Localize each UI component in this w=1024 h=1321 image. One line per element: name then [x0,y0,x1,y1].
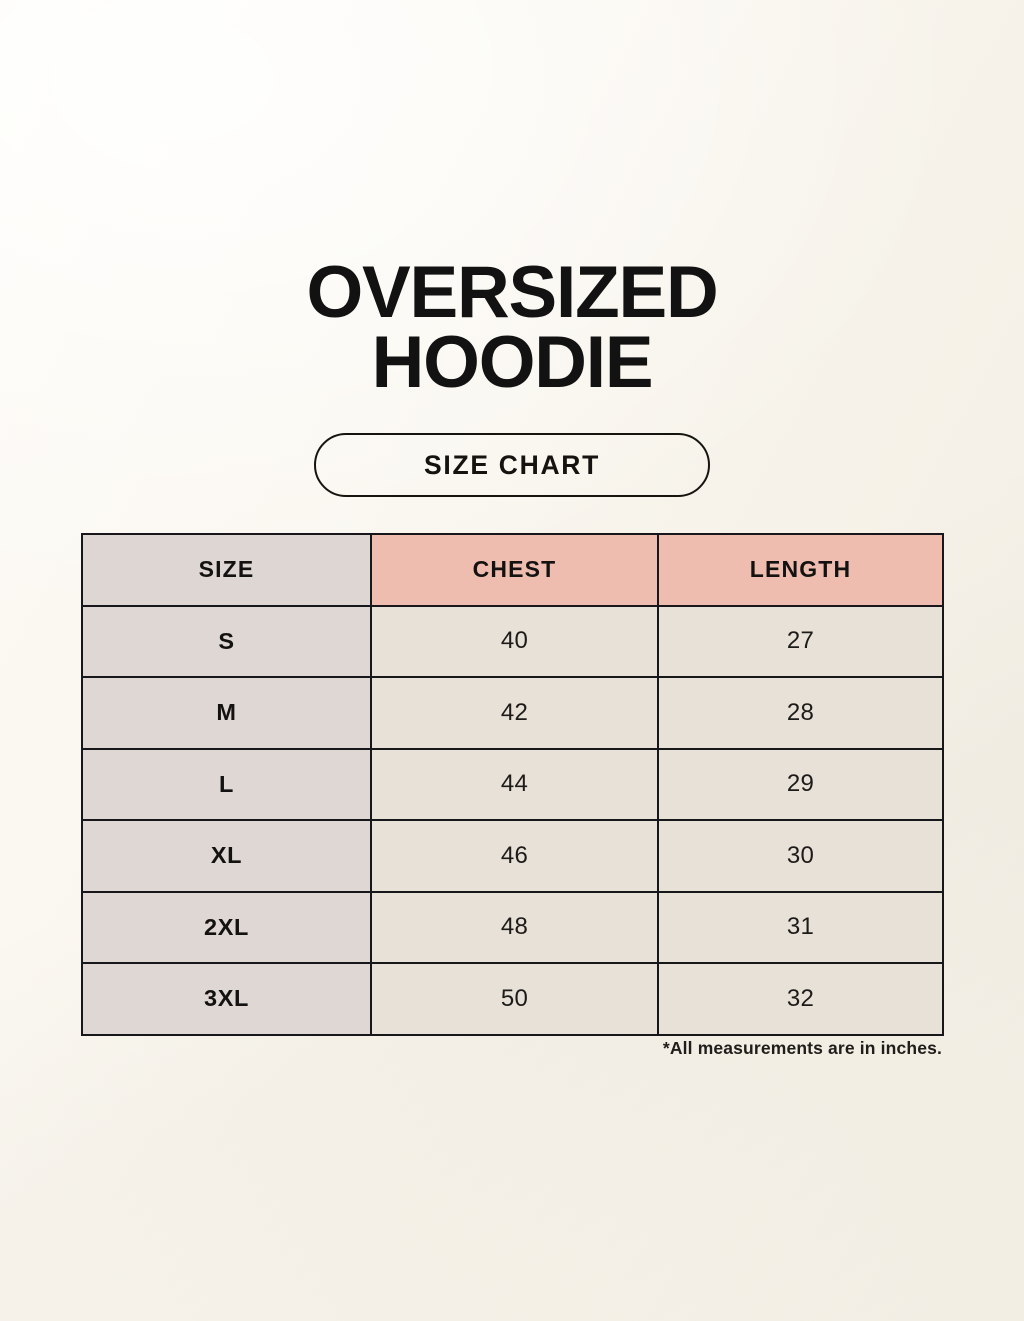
size-chart-table-container: SIZE CHEST LENGTH S 40 27 M 42 28 L [81,533,942,1036]
cell-chest: 42 [371,677,658,749]
cell-length: 32 [658,963,943,1035]
cell-length: 29 [658,749,943,821]
cell-chest: 48 [371,892,658,964]
cell-length: 28 [658,677,943,749]
cell-chest: 50 [371,963,658,1035]
page-title: OVERSIZED HOODIE [0,258,1024,398]
cell-chest: 46 [371,820,658,892]
measurements-note: *All measurements are in inches. [81,1038,942,1059]
cell-length: 27 [658,606,943,678]
table-row: 2XL 48 31 [82,892,943,964]
column-header-chest: CHEST [371,534,658,606]
table-row: S 40 27 [82,606,943,678]
cell-size: 2XL [82,892,371,964]
cell-size: L [82,749,371,821]
cell-size: XL [82,820,371,892]
page-title-line-1: OVERSIZED [0,258,1024,328]
cell-chest: 40 [371,606,658,678]
cell-chest: 44 [371,749,658,821]
cell-size: S [82,606,371,678]
cell-length: 31 [658,892,943,964]
size-chart-badge: SIZE CHART [314,433,710,497]
size-chart-badge-container: SIZE CHART [0,433,1024,497]
cell-size: M [82,677,371,749]
column-header-length: LENGTH [658,534,943,606]
table-row: M 42 28 [82,677,943,749]
size-chart-table: SIZE CHEST LENGTH S 40 27 M 42 28 L [81,533,944,1036]
table-row: L 44 29 [82,749,943,821]
table-row: 3XL 50 32 [82,963,943,1035]
size-chart-badge-label: SIZE CHART [424,450,600,481]
table-header-row: SIZE CHEST LENGTH [82,534,943,606]
page-title-line-2: HOODIE [0,328,1024,398]
cell-size: 3XL [82,963,371,1035]
table-row: XL 46 30 [82,820,943,892]
column-header-size: SIZE [82,534,371,606]
size-chart-page: OVERSIZED HOODIE SIZE CHART SIZE CHEST L… [0,0,1024,1321]
cell-length: 30 [658,820,943,892]
